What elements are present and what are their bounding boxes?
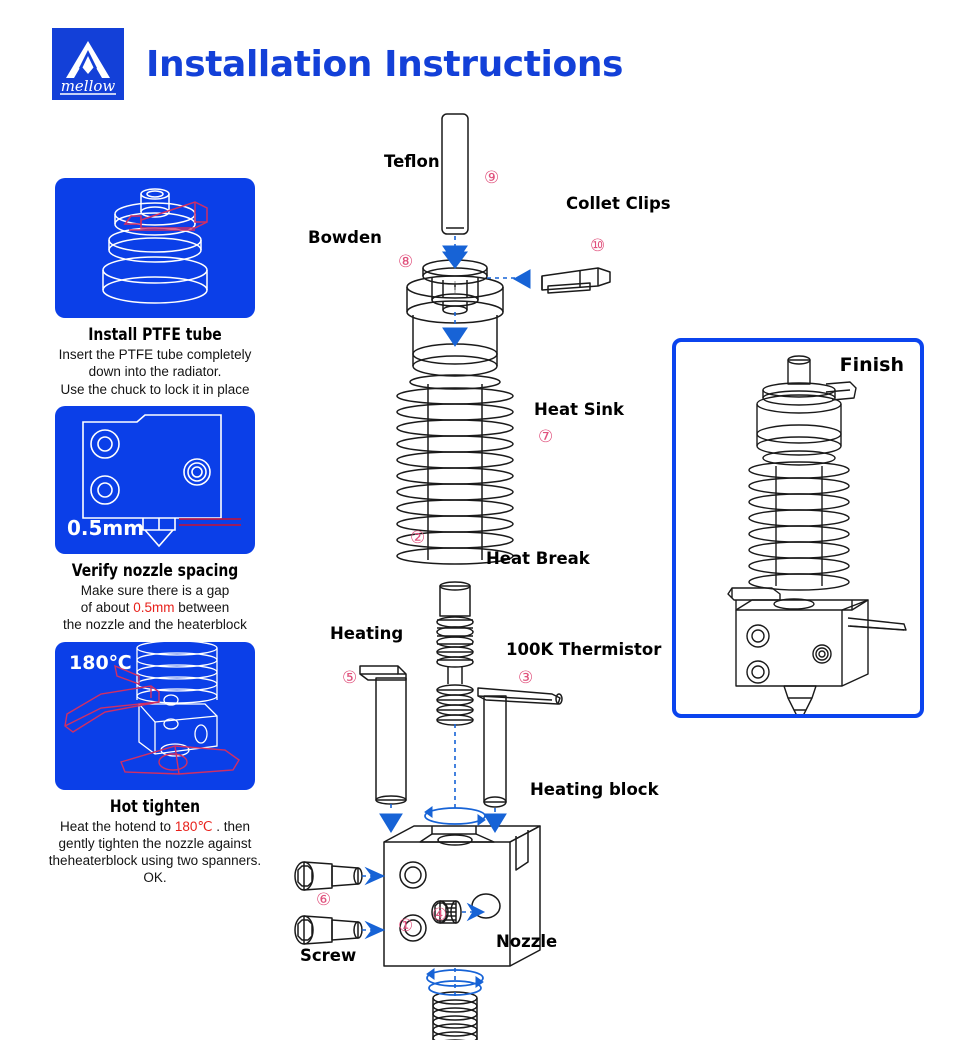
label-thermistor: 100K Thermistor bbox=[506, 640, 661, 659]
heat-sink-shape bbox=[397, 276, 513, 564]
step-1-line-1: Insert the PTFE tube completely bbox=[40, 346, 270, 363]
page-header: mellow Installation Instructions bbox=[52, 28, 623, 100]
step-1-line-2: down into the radiator. bbox=[40, 363, 270, 380]
finished-assembly-drawing bbox=[676, 342, 920, 714]
number-heat-break: ② bbox=[410, 528, 425, 548]
mellow-logo: mellow bbox=[52, 28, 124, 100]
exploded-assembly-diagram: Teflon ⑨ Bowden ⑧ Collet Clips ⑩ Heat Si… bbox=[280, 100, 700, 1040]
step-3-highlight: 180℃ bbox=[175, 819, 213, 834]
step-verify-nozzle-spacing: 0.5mm Verify nozzle spacing Make sure th… bbox=[40, 406, 270, 634]
number-heat-sink: ⑦ bbox=[538, 427, 553, 447]
step-2-illustration: 0.5mm bbox=[55, 406, 255, 554]
step-1-body: Insert the PTFE tube completely down int… bbox=[40, 346, 270, 398]
step-2-body: Make sure there is a gap of about 0.5mm … bbox=[40, 582, 270, 634]
number-heating-block: ④ bbox=[432, 905, 447, 925]
step-2-line-2: of about 0.5mm between bbox=[40, 599, 270, 616]
step-3-line-1: Heat the hotend to 180℃ . then bbox=[40, 818, 270, 835]
step-3-illustration: 180℃ bbox=[55, 642, 255, 790]
step-3-line-3: theheaterblock using two spanners. bbox=[40, 852, 270, 869]
page-title: Installation Instructions bbox=[146, 44, 623, 85]
steps-column: Install PTFE tube Insert the PTFE tube c… bbox=[40, 178, 270, 895]
teflon-tube-shape bbox=[442, 114, 468, 234]
collet-clip-shape bbox=[542, 268, 610, 293]
step-2-line-3: the nozzle and the heaterblock bbox=[40, 616, 270, 633]
label-bowden: Bowden bbox=[308, 228, 382, 247]
label-heating: Heating bbox=[330, 624, 403, 643]
step-1-illustration bbox=[55, 178, 255, 318]
step-3-body: Heat the hotend to 180℃ . then gently ti… bbox=[40, 818, 270, 887]
finish-panel: Finish bbox=[672, 338, 924, 718]
mellow-logo-icon: mellow bbox=[52, 28, 124, 100]
logo-wordmark: mellow bbox=[61, 77, 116, 95]
step-2-image-label: 0.5mm bbox=[67, 516, 144, 540]
label-heat-break: Heat Break bbox=[486, 549, 590, 568]
number-nozzle: ① bbox=[398, 916, 413, 936]
label-heat-sink: Heat Sink bbox=[534, 400, 624, 419]
step-2-line-1: Make sure there is a gap bbox=[40, 582, 270, 599]
step-2-title: Verify nozzle spacing bbox=[61, 561, 250, 581]
step-2-highlight: 0.5mm bbox=[133, 600, 174, 615]
step-install-ptfe-tube: Install PTFE tube Insert the PTFE tube c… bbox=[40, 178, 270, 398]
number-collet-clips: ⑩ bbox=[590, 236, 605, 256]
heat-break-shape bbox=[437, 582, 473, 725]
number-thermistor: ③ bbox=[518, 668, 533, 688]
step-1-line-3: Use the chuck to lock it in place bbox=[40, 381, 270, 398]
step-3-line-4: OK. bbox=[40, 869, 270, 886]
heating-cartridge-shape bbox=[360, 666, 406, 804]
label-collet-clips: Collet Clips bbox=[566, 194, 671, 213]
step-3-title: Hot tighten bbox=[61, 797, 250, 817]
step-hot-tighten: 180℃ Hot tighten Heat the hotend to 180℃… bbox=[40, 642, 270, 887]
number-heating: ⑤ bbox=[342, 668, 357, 688]
number-bowden: ⑧ bbox=[398, 252, 413, 272]
label-nozzle: Nozzle bbox=[496, 932, 557, 951]
label-screw: Screw bbox=[300, 946, 356, 965]
installation-instructions-page: mellow Installation Instructions bbox=[0, 0, 960, 1050]
step-3-line-2: gently tighten the nozzle against bbox=[40, 835, 270, 852]
label-heating-block: Heating block bbox=[530, 780, 659, 799]
number-screw: ⑥ bbox=[316, 890, 331, 910]
nozzle-shape bbox=[428, 992, 482, 1040]
finish-label: Finish bbox=[840, 354, 904, 376]
step-3-image-label: 180℃ bbox=[69, 652, 132, 674]
label-teflon: Teflon bbox=[384, 152, 440, 171]
number-teflon: ⑨ bbox=[484, 168, 499, 188]
step-1-title: Install PTFE tube bbox=[61, 325, 250, 345]
